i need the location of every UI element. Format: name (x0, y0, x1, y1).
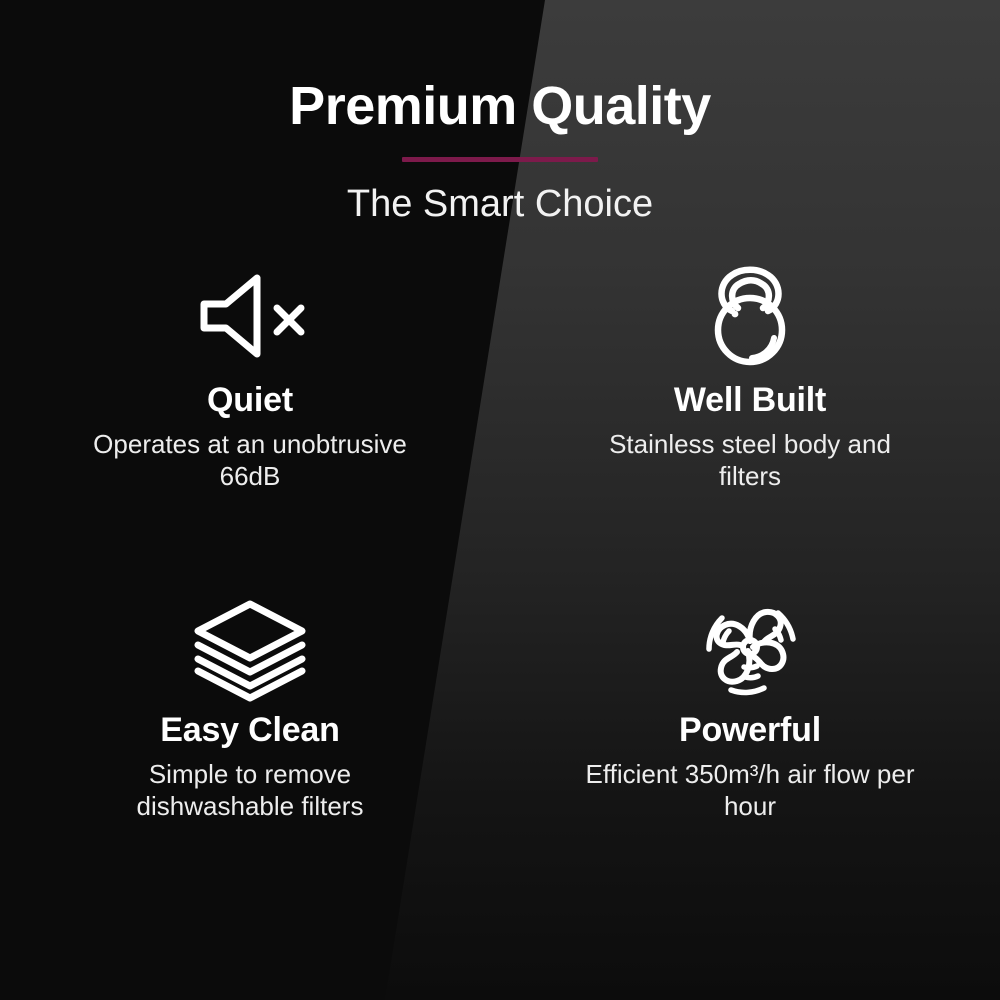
feature-title: Easy Clean (160, 712, 339, 749)
feature-item-quiet: Quiet Operates at an unobtrusive 66dB (0, 250, 500, 580)
feature-title: Well Built (674, 382, 826, 419)
feature-title: Quiet (207, 382, 293, 419)
accent-divider (402, 157, 598, 162)
card-content: Premium Quality The Smart Choice Quiet O… (0, 0, 1000, 1000)
feature-item-powerful: Powerful Efficient 350m³/h air flow per … (500, 580, 1000, 910)
feature-item-easy-clean: Easy Clean Simple to remove dishwashable… (0, 580, 500, 910)
feature-grid: Quiet Operates at an unobtrusive 66dB We… (0, 250, 1000, 910)
feature-description: Operates at an unobtrusive 66dB (85, 429, 415, 491)
page-subtitle: The Smart Choice (0, 184, 1000, 226)
header: Premium Quality The Smart Choice (0, 78, 1000, 225)
fan-icon (690, 594, 810, 698)
speaker-mute-icon (190, 264, 310, 368)
feature-description: Efficient 350m³/h air flow per hour (585, 759, 915, 821)
feature-description: Stainless steel body and filters (585, 429, 915, 491)
feature-item-well-built: Well Built Stainless steel body and filt… (500, 250, 1000, 580)
feature-highlights-card: Premium Quality The Smart Choice Quiet O… (0, 0, 1000, 1000)
page-title: Premium Quality (0, 78, 1000, 135)
feature-title: Powerful (679, 712, 821, 749)
kettlebell-icon (690, 264, 810, 368)
feature-description: Simple to remove dishwashable filters (85, 759, 415, 821)
layers-stack-icon (190, 594, 310, 698)
